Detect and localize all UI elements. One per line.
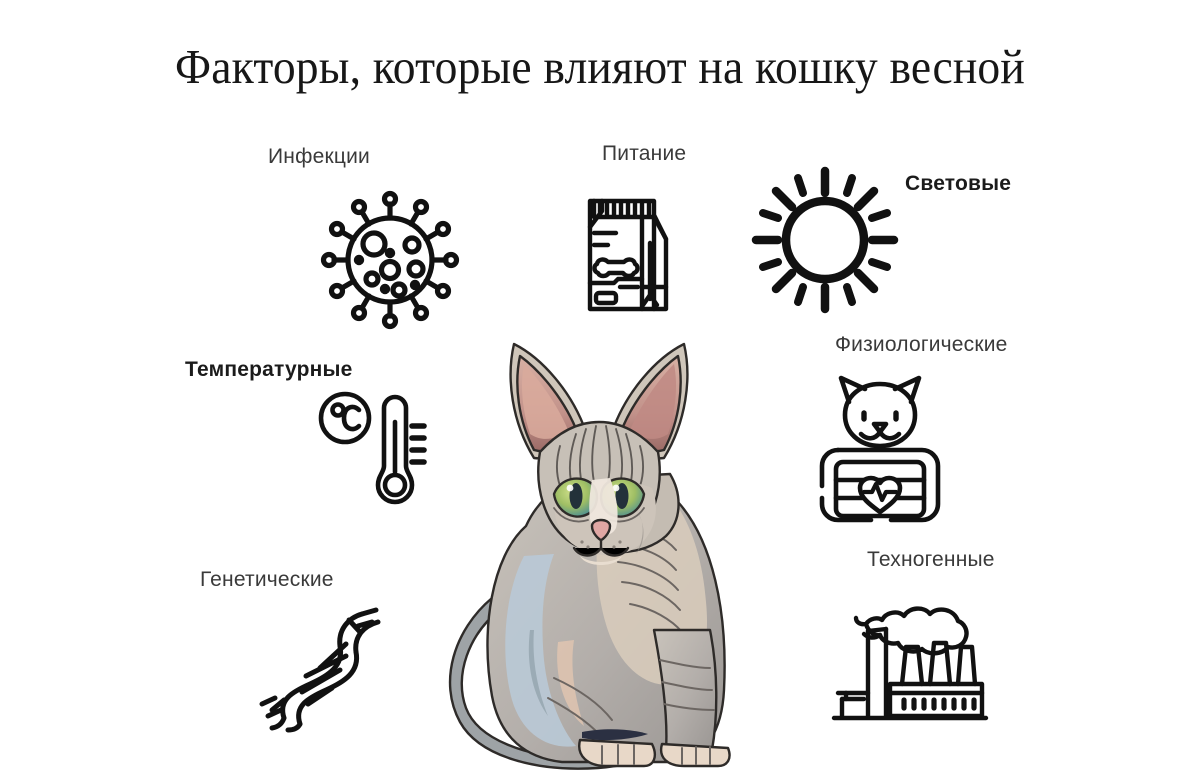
factor-physiological: Физиологические bbox=[825, 333, 1085, 543]
factor-label-temperature: Температурные bbox=[185, 358, 353, 382]
pet-food-bag-icon bbox=[568, 187, 698, 317]
cat-health-monitor-icon bbox=[805, 370, 955, 530]
factor-label-physiological: Физиологические bbox=[835, 333, 1008, 357]
factor-label-light: Световые bbox=[905, 172, 1011, 196]
virus-icon bbox=[315, 190, 465, 330]
factor-infections: Инфекции bbox=[260, 145, 500, 345]
dna-helix-icon bbox=[248, 600, 388, 730]
factor-genetic: Генетические bbox=[200, 568, 440, 748]
page-title: Факторы, которые влияют на кошку весной bbox=[42, 38, 1158, 95]
sun-icon bbox=[750, 165, 900, 315]
factor-label-nutrition: Питание bbox=[602, 142, 686, 166]
factor-label-genetic: Генетические bbox=[200, 568, 334, 592]
factor-label-infections: Инфекции bbox=[268, 145, 370, 169]
thermometer-icon bbox=[318, 390, 433, 510]
factor-light: Световые bbox=[745, 165, 1055, 335]
factor-technogenic: Техногенные bbox=[830, 548, 1090, 738]
factor-label-technogenic: Техногенные bbox=[867, 548, 995, 572]
factor-temperature: Температурные bbox=[185, 358, 445, 528]
factory-icon bbox=[830, 581, 990, 726]
sphynx-cat-illustration bbox=[430, 330, 760, 778]
infographic-poster: Факторы, которые влияют на кошку весной … bbox=[0, 0, 1200, 778]
